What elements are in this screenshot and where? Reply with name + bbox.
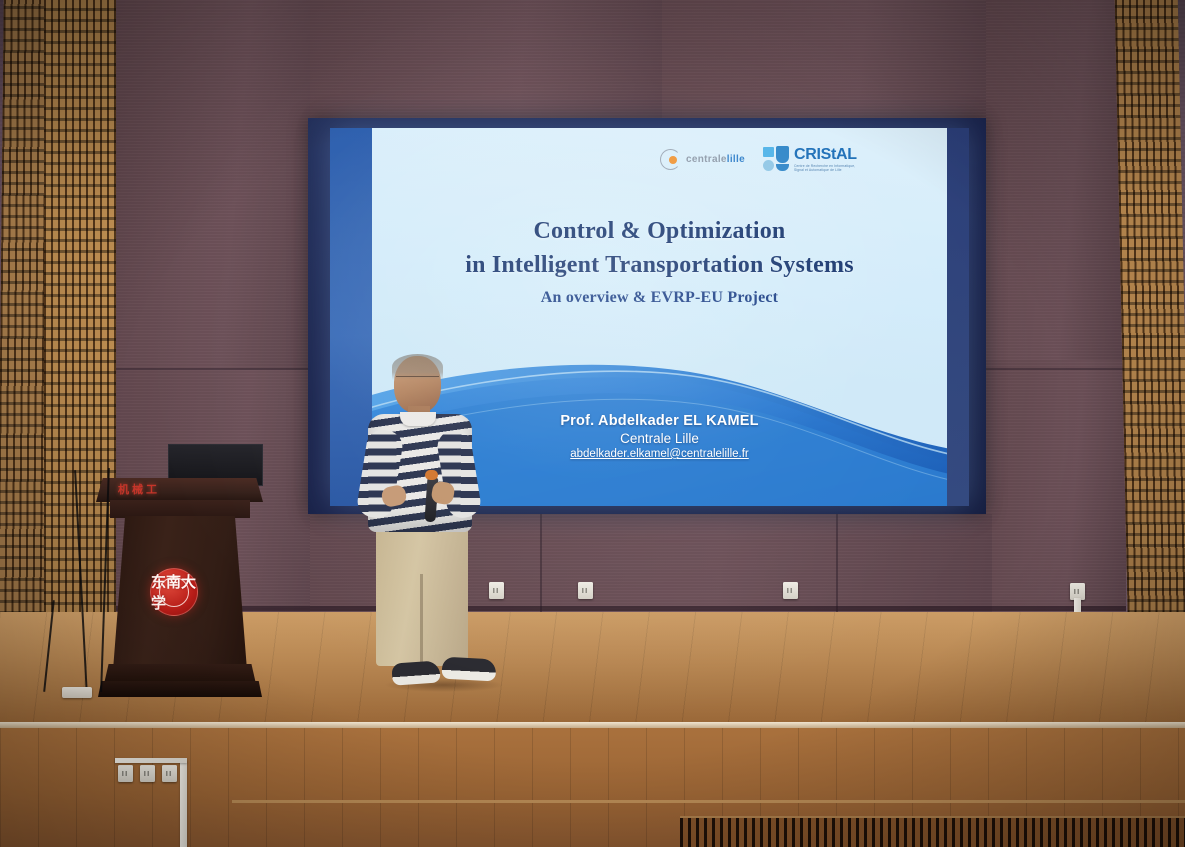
cristal-square-small-icon xyxy=(763,147,774,157)
microphone-head xyxy=(425,470,438,480)
cristal-tagline-line2: Signal et Automatique de Lille xyxy=(794,168,857,172)
stage-front-conduit xyxy=(180,760,187,847)
slide-subtitle: An overview & EVRP-EU Project xyxy=(372,289,947,307)
podium-neck xyxy=(110,500,250,518)
centrale-lille-wordmark: centralelille xyxy=(686,154,745,165)
podium-led-label: 机械工 xyxy=(118,481,208,497)
stage-front-outlet-3 xyxy=(162,765,177,782)
slide-logo-row: centralelille CRIStAL Centre de Recherch… xyxy=(660,146,857,173)
wall-seam-baseboard xyxy=(116,606,1126,611)
floor-power-strip xyxy=(62,687,92,698)
cristal-arch-icon xyxy=(776,164,789,171)
university-seal: 东南大学 xyxy=(150,568,198,616)
presenter-right-shoe xyxy=(441,657,496,682)
centrale-lille-dot-icon xyxy=(669,156,677,164)
podium-base-lower xyxy=(98,681,262,697)
lecture-hall-photo: centralelille CRIStAL Centre de Recherch… xyxy=(0,0,1185,847)
stage-vent-grille-lower xyxy=(680,816,1185,847)
stage-front-outlet-2 xyxy=(140,765,155,782)
wall-seam-vertical-b xyxy=(836,514,838,618)
presenter-leg-seam xyxy=(420,574,423,666)
wall-outlet-3 xyxy=(783,582,798,599)
stage-front-outlet-1 xyxy=(118,765,133,782)
presenter-left-shoe xyxy=(391,660,440,685)
stage-front-conduit-top xyxy=(115,758,187,763)
wall-panel-upper-center xyxy=(310,0,662,118)
cristal-text-block: CRIStAL Centre de Recherche en Informati… xyxy=(794,146,857,173)
slide-title-line2: in Intelligent Transportation Systems xyxy=(372,248,947,282)
wall-panel-right-upper xyxy=(986,0,1126,360)
cristal-wordmark: CRIStAL xyxy=(794,146,857,163)
university-seal-glyph: 东南大学 xyxy=(151,569,197,615)
presenter-collar xyxy=(400,412,436,426)
screen-right-blue-band xyxy=(947,128,969,506)
cristal-mark-icon xyxy=(763,146,791,172)
slide-title-line1: Control & Optimization xyxy=(372,214,947,248)
wall-panel-upper-left xyxy=(116,0,310,370)
presenter-person xyxy=(356,356,496,704)
wall-panel-upper-right xyxy=(662,0,992,118)
centrale-lille-part-b: lille xyxy=(727,154,745,165)
cristal-circle-icon xyxy=(763,160,774,171)
centrale-lille-arc-icon xyxy=(660,149,681,170)
centrale-lille-logo: centralelille xyxy=(660,149,745,170)
centrale-lille-part-a: centrale xyxy=(686,154,727,165)
slide-title-block: Control & Optimization in Intelligent Tr… xyxy=(372,214,947,307)
cristal-square-large-icon xyxy=(776,146,789,163)
wall-outlet-2 xyxy=(578,582,593,599)
presenter-glasses xyxy=(396,376,439,384)
wall-seam-vertical-a xyxy=(540,514,542,618)
cristal-logo: CRIStAL Centre de Recherche en Informati… xyxy=(763,146,857,173)
